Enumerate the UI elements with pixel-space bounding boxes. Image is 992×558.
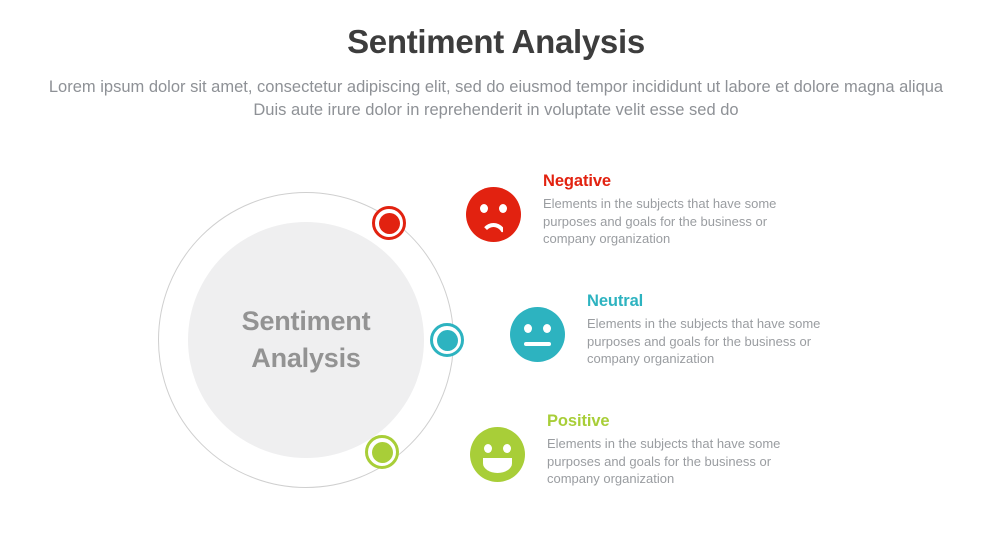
sentiment-item-negative-title: Negative [543, 170, 823, 192]
sentiment-item-neutral[interactable]: Neutral Elements in the subjects that ha… [510, 290, 867, 368]
node-dot-neutral[interactable] [430, 323, 464, 357]
sentiment-circle-diagram: Sentiment Analysis [158, 192, 454, 488]
happy-face-eye-left [484, 444, 492, 453]
sentiment-item-negative-text: Negative Elements in the subjects that h… [543, 170, 823, 248]
happy-face-icon [470, 427, 525, 482]
neutral-face-mouth [524, 342, 551, 346]
diagram-center-label-line2: Analysis [251, 340, 360, 377]
sentiment-item-neutral-title: Neutral [587, 290, 867, 312]
page-subtitle: Lorem ipsum dolor sit amet, consectetur … [0, 76, 992, 122]
sad-face-mouth [480, 223, 507, 238]
sentiment-item-positive-description: Elements in the subjects that have some … [547, 435, 827, 488]
node-dot-positive-core [372, 442, 393, 463]
neutral-face-eye-right [543, 324, 551, 333]
happy-face-mouth [483, 458, 512, 473]
node-dot-negative-core [379, 213, 400, 234]
node-dot-negative[interactable] [372, 206, 406, 240]
header: Sentiment Analysis Lorem ipsum dolor sit… [0, 22, 992, 122]
sentiment-item-positive-title: Positive [547, 410, 827, 432]
neutral-face-icon [510, 307, 565, 362]
infographic-canvas: Sentiment Analysis Lorem ipsum dolor sit… [0, 0, 992, 558]
neutral-face-eye-left [524, 324, 532, 333]
sentiment-item-negative-description: Elements in the subjects that have some … [543, 195, 823, 248]
diagram-center-label: Sentiment Analysis [188, 222, 424, 458]
node-dot-neutral-core [437, 330, 458, 351]
sentiment-item-negative[interactable]: Negative Elements in the subjects that h… [466, 170, 823, 248]
sad-face-eye-right [499, 204, 507, 213]
sentiment-item-positive-text: Positive Elements in the subjects that h… [547, 410, 827, 488]
node-dot-positive[interactable] [365, 435, 399, 469]
diagram-center-label-line1: Sentiment [242, 303, 371, 340]
sentiment-item-positive[interactable]: Positive Elements in the subjects that h… [470, 410, 827, 488]
sad-face-eye-left [480, 204, 488, 213]
page-title: Sentiment Analysis [0, 22, 992, 62]
sentiment-item-neutral-description: Elements in the subjects that have some … [587, 315, 867, 368]
happy-face-eye-right [503, 444, 511, 453]
sad-face-icon [466, 187, 521, 242]
sentiment-item-neutral-text: Neutral Elements in the subjects that ha… [587, 290, 867, 368]
